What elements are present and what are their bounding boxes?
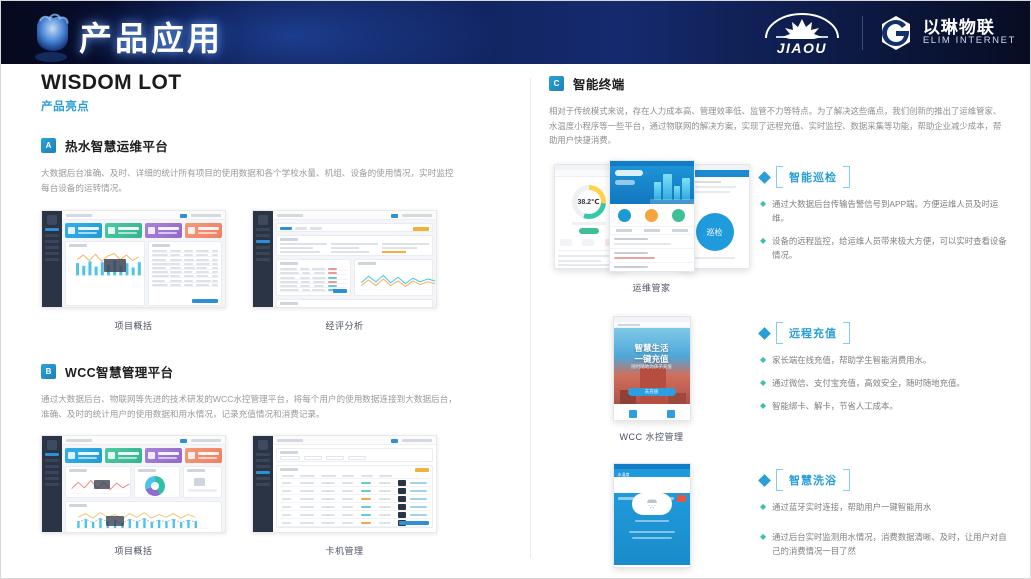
section-a-description: 大数据后台准确、及时、详细的统计所有项目的使用数据和各个学校水量、机组、设备的使… bbox=[41, 166, 461, 196]
line-chart-panel bbox=[65, 466, 131, 498]
left-column: WISDOM LOT 产品亮点 A 热水智慧运维平台 大数据后台准确、及时、详细… bbox=[41, 64, 511, 557]
wcc-overview-image bbox=[41, 435, 226, 533]
bullet-item: ◆通过后台实时监测用水情况，消费数据清晰、及时，让用户对自己的消费情况一目了然 bbox=[760, 531, 1012, 559]
jiaou-logo-text: JIAOU bbox=[777, 40, 827, 56]
gauge-value: 38.2℃ bbox=[572, 185, 606, 219]
phone-wcc-screen: 智慧生活 一键充值 随时随地为孩子充值 去充值 bbox=[613, 316, 691, 421]
temp-app-title: 水温度 bbox=[618, 472, 630, 478]
bullet-text: 通过微信、支付宝充值，高效安全，随时随地充值。 bbox=[772, 377, 965, 391]
action-icon-1[interactable] bbox=[618, 209, 631, 222]
bullet-item: ◆通过微信、支付宝充值，高效安全，随时随地充值。 bbox=[760, 377, 1012, 391]
phone-mockup-group: 水温度 bbox=[549, 463, 754, 579]
sunrise-icon bbox=[760, 10, 844, 42]
diamond-icon bbox=[758, 171, 771, 184]
section-a-title: 热水智慧运维平台 bbox=[65, 136, 168, 155]
dashboard-content bbox=[273, 220, 436, 307]
gauge-panel bbox=[183, 466, 222, 498]
feature-group-bathing: 水温度 bbox=[549, 463, 1019, 579]
section-c-badge: C bbox=[549, 76, 564, 91]
bullet-dot-icon: ◆ bbox=[760, 501, 766, 515]
stat-card-row bbox=[65, 448, 222, 463]
usage-chart-panel bbox=[65, 501, 222, 533]
screenshot-item[interactable]: 项目概括 bbox=[41, 210, 226, 332]
phone-caption: WCC 水控管理 bbox=[620, 430, 684, 443]
page-header: 产品应用 JIAOU 以琳物联 bbox=[1, 1, 1031, 64]
bullet-dot-icon: ◆ bbox=[760, 377, 766, 391]
feature-bullets-recharge: 远程充值 ◆家长端在线充值，帮助学生智能消费用水。 ◆通过微信、支付宝充值，高效… bbox=[754, 316, 1012, 443]
elim-logo: 以琳物联 ELIM INTERNET bbox=[877, 14, 1016, 52]
dashboard-topbar bbox=[273, 211, 436, 220]
section-a-header: A 热水智慧运维平台 bbox=[41, 136, 511, 155]
nav-icon-1[interactable] bbox=[629, 410, 637, 418]
bullet-list: ◆通过大数据后台传输告警信号到APP端。方便运维人员及时运维。 ◆设备的远程监控… bbox=[760, 198, 1012, 262]
bullet-list: ◆家长端在线充值，帮助学生智能消费用水。 ◆通过微信、支付宝充值，高效安全，随时… bbox=[760, 354, 1012, 414]
wcc-hero-sub: 随时随地为孩子充值 bbox=[614, 364, 690, 370]
bullet-dot-icon: ◆ bbox=[760, 400, 766, 414]
bullet-dot-icon: ◆ bbox=[760, 354, 766, 368]
dashboard-sidebar bbox=[253, 211, 273, 307]
wcc-status-title bbox=[618, 324, 640, 326]
dashboard-content bbox=[273, 445, 436, 532]
search-filter-panel bbox=[276, 448, 433, 462]
bullet-text: 设备的远程监控，给运维人员带来极大方便，可以实时查看设备情况。 bbox=[772, 235, 1012, 263]
feature-title-row: 智慧洗浴 bbox=[760, 469, 1012, 491]
screenshot-caption: 项目概括 bbox=[41, 544, 226, 557]
diamond-icon bbox=[758, 474, 771, 487]
bullet-item: ◆设备的远程监控，给运维人员带来极大方便，可以实时查看设备情况。 bbox=[760, 235, 1012, 263]
feature-bullets-inspection: 智能巡检 ◆通过大数据后台传输告警信号到APP端。方便运维人员及时运维。 ◆设备… bbox=[754, 160, 1012, 294]
card-machine-table bbox=[276, 465, 433, 528]
stat-card bbox=[65, 223, 102, 238]
right-column: C 智能终端 相对于传统模式来说，存在人力成本高、管理效率低、监管不力等特点。为… bbox=[549, 64, 1019, 579]
bullet-item: ◆智能绑卡、解卡，节省人工成本。 bbox=[760, 400, 1012, 414]
stat-card-row bbox=[65, 223, 222, 238]
phone-mockup-group: 智慧生活 一键充值 随时随地为孩子充值 去充值 WCC 水控管理 bbox=[549, 316, 754, 443]
city-illustration bbox=[610, 166, 694, 204]
bullet-item: ◆通过大数据后台传输告警信号到APP端。方便运维人员及时运维。 bbox=[760, 198, 1012, 226]
page-body: WISDOM LOT 产品亮点 A 热水智慧运维平台 大数据后台准确、及时、详细… bbox=[1, 64, 1031, 579]
inspection-action-button[interactable]: 巡检 bbox=[696, 213, 734, 251]
feature-title: 智能巡检 bbox=[789, 172, 837, 184]
dashboard-topbar bbox=[62, 211, 225, 220]
records-table-panel bbox=[276, 259, 351, 296]
bullet-item: ◆家长端在线充值，帮助学生智能消费用水。 bbox=[760, 354, 1012, 368]
filter-bar bbox=[276, 223, 433, 232]
notification-icon[interactable] bbox=[677, 495, 686, 502]
section-c-title: 智能终端 bbox=[573, 74, 625, 93]
temp-bottom-nav bbox=[614, 565, 690, 568]
dashboard-topbar bbox=[62, 436, 225, 445]
dashboard-content bbox=[62, 445, 225, 532]
screenshot-item[interactable]: 经评分析 bbox=[252, 210, 437, 332]
wcc-hero-banner: 智慧生活 一键充值 随时随地为孩子充值 去充值 bbox=[614, 328, 690, 404]
feature-title-row: 远程充值 bbox=[760, 322, 1012, 344]
section-b-badge: B bbox=[41, 364, 56, 379]
column-divider bbox=[530, 78, 531, 558]
product-application-page: 产品应用 JIAOU 以琳物联 bbox=[0, 0, 1031, 579]
nav-icon-2[interactable] bbox=[667, 410, 675, 418]
wisdom-lot-subtitle: 产品亮点 bbox=[41, 98, 511, 114]
header-logos: JIAOU 以琳物联 ELIM INTERNET bbox=[756, 1, 1016, 64]
screenshot-caption: 经评分析 bbox=[252, 319, 437, 332]
bullet-text: 通过大数据后台传输告警信号到APP端。方便运维人员及时运维。 bbox=[772, 198, 1012, 226]
shower-icon bbox=[645, 499, 659, 509]
page-title: 产品应用 bbox=[79, 12, 223, 60]
stat-card bbox=[145, 448, 182, 463]
bullet-dot-icon: ◆ bbox=[760, 235, 766, 263]
pie-chart-panel bbox=[134, 466, 179, 498]
bullet-text: 通过蓝牙实时连接，帮助用户一键智能用水 bbox=[772, 501, 931, 515]
card-machine-image bbox=[252, 435, 437, 533]
screenshot-caption: 卡机管理 bbox=[252, 544, 437, 557]
alert-list-item[interactable] bbox=[610, 235, 694, 249]
combo-chart-panel bbox=[65, 241, 145, 306]
fist-icon bbox=[23, 5, 79, 63]
wisdom-lot-title: WISDOM LOT bbox=[41, 71, 511, 95]
stat-card bbox=[145, 223, 182, 238]
phone-temperature-screen: 水温度 bbox=[613, 463, 691, 568]
phone-home-screen bbox=[609, 160, 695, 272]
temperature-gauge: 38.2℃ bbox=[572, 185, 606, 219]
dashboard-sidebar bbox=[42, 211, 62, 307]
section-a-screenshots: 项目概括 bbox=[41, 210, 511, 332]
screenshot-item[interactable]: 项目概括 bbox=[41, 435, 226, 557]
summary-panel bbox=[276, 235, 433, 256]
bullet-dot-icon: ◆ bbox=[760, 531, 766, 559]
section-b-description: 通过大数据后台、物联网等先进的技术研发的WCC水控管理平台，将每个用户的使用数据… bbox=[41, 392, 461, 422]
bullet-list: ◆通过蓝牙实时连接，帮助用户一键智能用水 ◆通过后台实时监测用水情况，消费数据清… bbox=[760, 501, 1012, 559]
detail-table-panel bbox=[276, 299, 433, 308]
section-c-description: 相对于传统模式来说，存在人力成本高、管理效率低、监管不力等特点。为了解决这些痛点… bbox=[549, 104, 1007, 148]
feature-bullets-bathing: 智慧洗浴 ◆通过蓝牙实时连接，帮助用户一键智能用水 ◆通过后台实时监测用水情况，… bbox=[754, 463, 1012, 579]
logo-divider bbox=[862, 16, 863, 50]
dashboard-topbar bbox=[273, 436, 436, 445]
section-b-title: WCC智慧管理平台 bbox=[65, 362, 173, 381]
temp-main-area bbox=[614, 493, 690, 565]
bullet-text: 智能绑卡、解卡，节省人工成本。 bbox=[772, 400, 898, 414]
stat-card bbox=[185, 223, 222, 238]
alert-list-item[interactable] bbox=[610, 263, 694, 273]
dashboard-overview-image bbox=[41, 210, 226, 308]
section-a-badge: A bbox=[41, 138, 56, 153]
bullet-item: ◆通过蓝牙实时连接，帮助用户一键智能用水 bbox=[760, 501, 1012, 515]
bullet-text: 通过后台实时监测用水情况，消费数据清晰、及时，让用户对自己的消费情况一目了然 bbox=[772, 531, 1012, 559]
bullet-text: 家长端在线充值，帮助学生智能消费用水。 bbox=[772, 354, 931, 368]
feature-group-recharge: 智慧生活 一键充值 随时随地为孩子充值 去充值 WCC 水控管理 bbox=[549, 316, 1019, 443]
stat-card bbox=[105, 448, 142, 463]
building-illustration bbox=[640, 368, 666, 404]
data-table-panel bbox=[148, 241, 222, 306]
bullet-dot-icon: ◆ bbox=[760, 198, 766, 226]
wcc-recharge-button[interactable]: 去充值 bbox=[628, 388, 676, 396]
elim-mark-icon bbox=[877, 14, 915, 52]
screenshot-item[interactable]: 卡机管理 bbox=[252, 435, 437, 557]
phone-caption: 运维管家 bbox=[632, 281, 670, 294]
wcc-bottom-nav bbox=[614, 404, 690, 421]
stat-card bbox=[105, 223, 142, 238]
diamond-icon bbox=[758, 327, 771, 340]
dashboard-content bbox=[62, 220, 225, 307]
jiaou-logo: JIAOU bbox=[756, 10, 848, 56]
trend-chart-panel bbox=[354, 259, 433, 296]
alert-list-item[interactable] bbox=[610, 249, 694, 263]
screenshot-caption: 项目概括 bbox=[41, 319, 226, 332]
action-icon-2[interactable] bbox=[645, 209, 658, 222]
action-icon-3[interactable] bbox=[672, 209, 685, 222]
elim-logo-cn: 以琳物联 bbox=[923, 19, 1016, 37]
stat-card bbox=[65, 448, 102, 463]
feature-group-inspection: 38.2℃ bbox=[549, 160, 1019, 294]
stat-card bbox=[185, 448, 222, 463]
section-c-header: C 智能终端 bbox=[549, 74, 1019, 93]
feature-title-row: 智能巡检 bbox=[760, 166, 1012, 188]
dashboard-sidebar bbox=[253, 436, 273, 532]
feature-title: 远程充值 bbox=[789, 328, 837, 340]
section-b-screenshots: 项目概括 bbox=[41, 435, 511, 557]
section-b-header: B WCC智慧管理平台 bbox=[41, 362, 511, 381]
quick-action-icons bbox=[610, 204, 694, 226]
phone-mockup-group: 38.2℃ bbox=[549, 160, 754, 294]
dashboard-sidebar bbox=[42, 436, 62, 532]
three-phone-mockup: 38.2℃ bbox=[554, 160, 750, 272]
analysis-dashboard-image bbox=[252, 210, 437, 308]
feature-title: 智慧洗浴 bbox=[789, 475, 837, 487]
elim-logo-en: ELIM INTERNET bbox=[923, 36, 1016, 46]
